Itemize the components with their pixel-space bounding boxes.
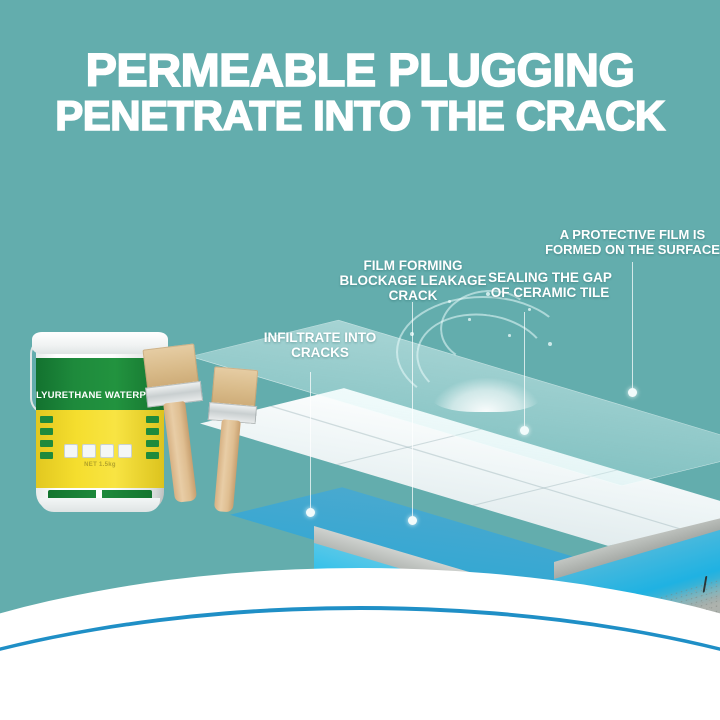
bucket-tab — [40, 452, 53, 459]
badge-icon — [100, 444, 114, 458]
badge-icon — [64, 444, 78, 458]
bucket-weight-text: NET 1.5kg — [36, 462, 164, 468]
brush-handle — [163, 401, 197, 503]
bucket-tab — [40, 416, 53, 423]
promo-banner: PERMEABLE PLUGGING PENETRATE INTO THE CR… — [0, 0, 720, 720]
leader-line-protective — [632, 262, 633, 392]
bucket-icon-badges — [64, 444, 132, 458]
bucket-tab — [40, 428, 53, 435]
label-protective-film: A PROTECTIVE FILM IS FORMED ON THE SURFA… — [545, 228, 720, 257]
leader-dot-sealing — [520, 426, 529, 435]
leader-dot-protective — [628, 388, 637, 397]
bottom-swoosh — [0, 510, 720, 720]
badge-icon — [82, 444, 96, 458]
label-sealing-the-gap: SEALING THE GAP OF CERAMIC TILE — [480, 270, 620, 300]
label-film-forming-blockage: FILM FORMING BLOCKAGE LEAKAGE CRACK — [338, 258, 488, 303]
label-infiltrate-into-cracks: INFILTRATE INTO CRACKS — [255, 330, 385, 360]
headline-line-2: PENETRATE INTO THE CRACK — [0, 96, 720, 136]
brush-handle — [214, 419, 241, 512]
splash-droplet — [528, 308, 531, 311]
leader-line-film — [412, 302, 413, 520]
bucket-tab — [40, 440, 53, 447]
headline-block: PERMEABLE PLUGGING PENETRATE INTO THE CR… — [0, 48, 720, 136]
splash-droplet — [468, 318, 471, 321]
leader-line-sealing — [524, 312, 525, 430]
headline-line-1: PERMEABLE PLUGGING — [0, 48, 720, 92]
badge-icon — [118, 444, 132, 458]
leader-line-infiltrate — [310, 372, 311, 512]
brush-bristles — [211, 366, 258, 408]
